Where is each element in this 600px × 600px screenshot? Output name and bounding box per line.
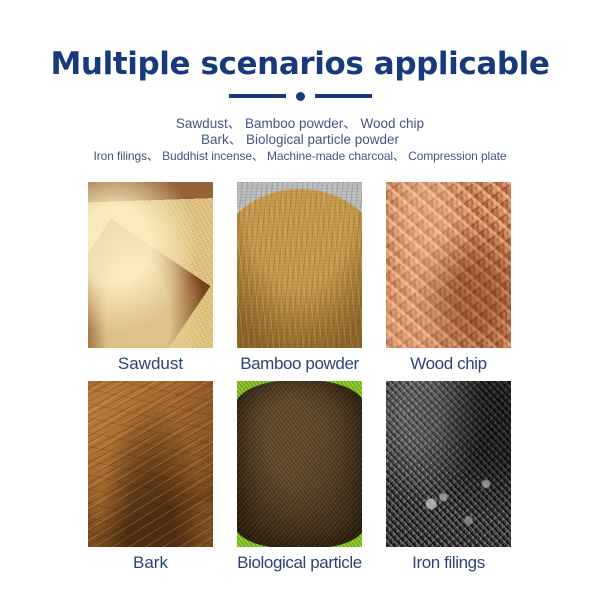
subtitle-line-1: Sawdust、 Bamboo powder、 Wood chip [0, 116, 600, 132]
gallery-item-caption: Iron filings [412, 552, 485, 574]
subtitle-line-3: Iron filings、 Buddhist incense、 Machine-… [0, 148, 600, 164]
subtitle-block: Sawdust、 Bamboo powder、 Wood chip Bark、 … [0, 116, 600, 164]
gallery-item-caption: Wood chip [410, 353, 486, 375]
gallery-item-caption: Bamboo powder [240, 353, 359, 375]
gallery-row-top: Sawdust Bamboo powder Wood chip [88, 182, 512, 375]
header: Multiple scenarios applicable [0, 46, 600, 101]
gallery-item-caption: Biological particle [237, 552, 362, 574]
line-dot-line-divider-icon [0, 91, 600, 101]
material-gallery: Sawdust Bamboo powder Wood chip Bark [88, 182, 512, 574]
sawdust-photo [88, 182, 213, 348]
divider-bar-left [229, 94, 286, 98]
gallery-item-caption: Sawdust [118, 353, 183, 375]
gallery-item-wood-chip[interactable]: Wood chip [386, 182, 511, 375]
gallery-item-caption: Bark [133, 552, 168, 574]
gallery-item-sawdust[interactable]: Sawdust [88, 182, 213, 375]
bamboo-powder-photo [237, 182, 362, 348]
gallery-item-bamboo-powder[interactable]: Bamboo powder [237, 182, 362, 375]
subtitle-line-2: Bark、 Biological particle powder [0, 132, 600, 148]
promo-banner: Multiple scenarios applicable Sawdust、 B… [0, 0, 600, 600]
biological-particle-photo [237, 381, 362, 547]
bark-photo [88, 381, 213, 547]
gallery-item-bark[interactable]: Bark [88, 381, 213, 574]
divider-bar-right [315, 94, 372, 98]
iron-filings-photo [386, 381, 511, 547]
gallery-row-bottom: Bark Biological particle Iron filings [88, 381, 512, 574]
gallery-item-biological-particle[interactable]: Biological particle [237, 381, 362, 574]
page-title: Multiple scenarios applicable [0, 46, 600, 82]
gallery-item-iron-filings[interactable]: Iron filings [386, 381, 511, 574]
wood-chip-photo [386, 182, 511, 348]
divider-dot [296, 92, 305, 101]
